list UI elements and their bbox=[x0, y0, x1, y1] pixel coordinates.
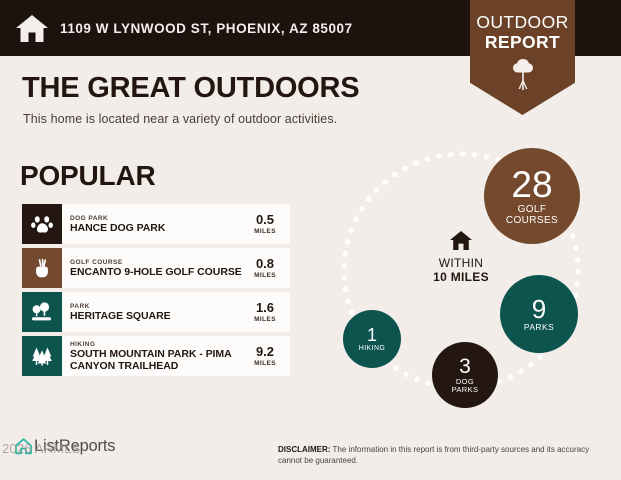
stat-label-line1: GOLF bbox=[518, 204, 547, 215]
list-item-tile bbox=[22, 336, 62, 376]
list-item-name: HERITAGE SQUARE bbox=[70, 311, 242, 323]
golf-clubs-icon bbox=[30, 256, 54, 280]
list-item-name: SOUTH MOUNTAIN PARK - PIMA CANYON TRAILH… bbox=[70, 349, 242, 372]
page-title: THE GREAT OUTDOORS bbox=[22, 72, 359, 105]
list-item-text: DOG PARK HANCE DOG PARK bbox=[62, 204, 246, 244]
list-item-distance: 1.6 MILES bbox=[246, 292, 290, 332]
stat-value: 3 bbox=[459, 356, 471, 377]
diagram-center-label: WITHIN 10 MILES bbox=[406, 230, 516, 284]
list-item-name: ENCANTO 9-HOLE GOLF COURSE bbox=[70, 267, 242, 279]
stat-label-line1: PARKS bbox=[524, 323, 554, 333]
mls-watermark: 2026 ARMLS bbox=[2, 441, 81, 456]
list-item-text: HIKING SOUTH MOUNTAIN PARK - PIMA CANYON… bbox=[62, 336, 246, 376]
home-icon bbox=[15, 13, 49, 43]
popular-heading: POPULAR bbox=[20, 160, 156, 192]
stat-value: 28 bbox=[511, 166, 552, 203]
list-item-distance: 0.5 MILES bbox=[246, 204, 290, 244]
list-item[interactable]: HIKING SOUTH MOUNTAIN PARK - PIMA CANYON… bbox=[22, 336, 290, 376]
distance-value: 1.6 bbox=[256, 301, 274, 315]
center-line2: 10 MILES bbox=[406, 270, 516, 284]
stat-value: 9 bbox=[532, 296, 546, 322]
list-item-text: GOLF COURSE ENCANTO 9-HOLE GOLF COURSE bbox=[62, 248, 246, 288]
popular-list: DOG PARK HANCE DOG PARK 0.5 MILES GOLF C… bbox=[22, 204, 290, 380]
list-item-tile bbox=[22, 292, 62, 332]
stat-bubble-dog-parks[interactable]: 3 DOG PARKS bbox=[432, 342, 498, 408]
list-item-distance: 0.8 MILES bbox=[246, 248, 290, 288]
list-item-distance: 9.2 MILES bbox=[246, 336, 290, 376]
stat-label-line1: HIKING bbox=[359, 345, 386, 353]
disclaimer: DISCLAIMER: The information in this repo… bbox=[278, 444, 593, 466]
stat-label-line2: COURSES bbox=[506, 215, 558, 226]
distance-unit: MILES bbox=[254, 315, 276, 324]
paw-icon bbox=[30, 212, 54, 236]
list-item-tile bbox=[22, 204, 62, 244]
badge-line2: REPORT bbox=[470, 32, 575, 52]
distance-unit: MILES bbox=[254, 227, 276, 236]
distance-unit: MILES bbox=[254, 359, 276, 368]
page-subtitle: This home is located near a variety of o… bbox=[23, 112, 337, 126]
outdoor-summary-diagram: 28 GOLF COURSES 9 PARKS 3 DOG PARKS 1 HI… bbox=[328, 140, 603, 415]
center-line1: WITHIN bbox=[406, 256, 516, 270]
list-item[interactable]: DOG PARK HANCE DOG PARK 0.5 MILES bbox=[22, 204, 290, 244]
outdoor-report-badge: OUTDOOR REPORT bbox=[470, 0, 575, 115]
stat-label-line2: PARKS bbox=[452, 386, 479, 394]
distance-value: 0.5 bbox=[256, 213, 274, 227]
stat-bubble-hiking[interactable]: 1 HIKING bbox=[343, 310, 401, 368]
disclaimer-label: DISCLAIMER: bbox=[278, 445, 330, 454]
distance-unit: MILES bbox=[254, 271, 276, 280]
list-item-text: PARK HERITAGE SQUARE bbox=[62, 292, 246, 332]
pine-trees-icon bbox=[30, 344, 54, 368]
header-address: 1109 W LYNWOOD ST, PHOENIX, AZ 85007 bbox=[60, 21, 353, 36]
list-item[interactable]: PARK HERITAGE SQUARE 1.6 MILES bbox=[22, 292, 290, 332]
list-item[interactable]: GOLF COURSE ENCANTO 9-HOLE GOLF COURSE 0… bbox=[22, 248, 290, 288]
list-item-name: HANCE DOG PARK bbox=[70, 223, 242, 235]
home-icon bbox=[449, 230, 473, 251]
badge-line1: OUTDOOR bbox=[470, 12, 575, 32]
stat-value: 1 bbox=[367, 326, 377, 344]
list-item-tile bbox=[22, 248, 62, 288]
distance-value: 0.8 bbox=[256, 257, 274, 271]
park-tree-icon bbox=[30, 300, 54, 324]
distance-value: 9.2 bbox=[256, 345, 274, 359]
tree-icon bbox=[508, 57, 538, 91]
stat-bubble-parks[interactable]: 9 PARKS bbox=[500, 275, 578, 353]
